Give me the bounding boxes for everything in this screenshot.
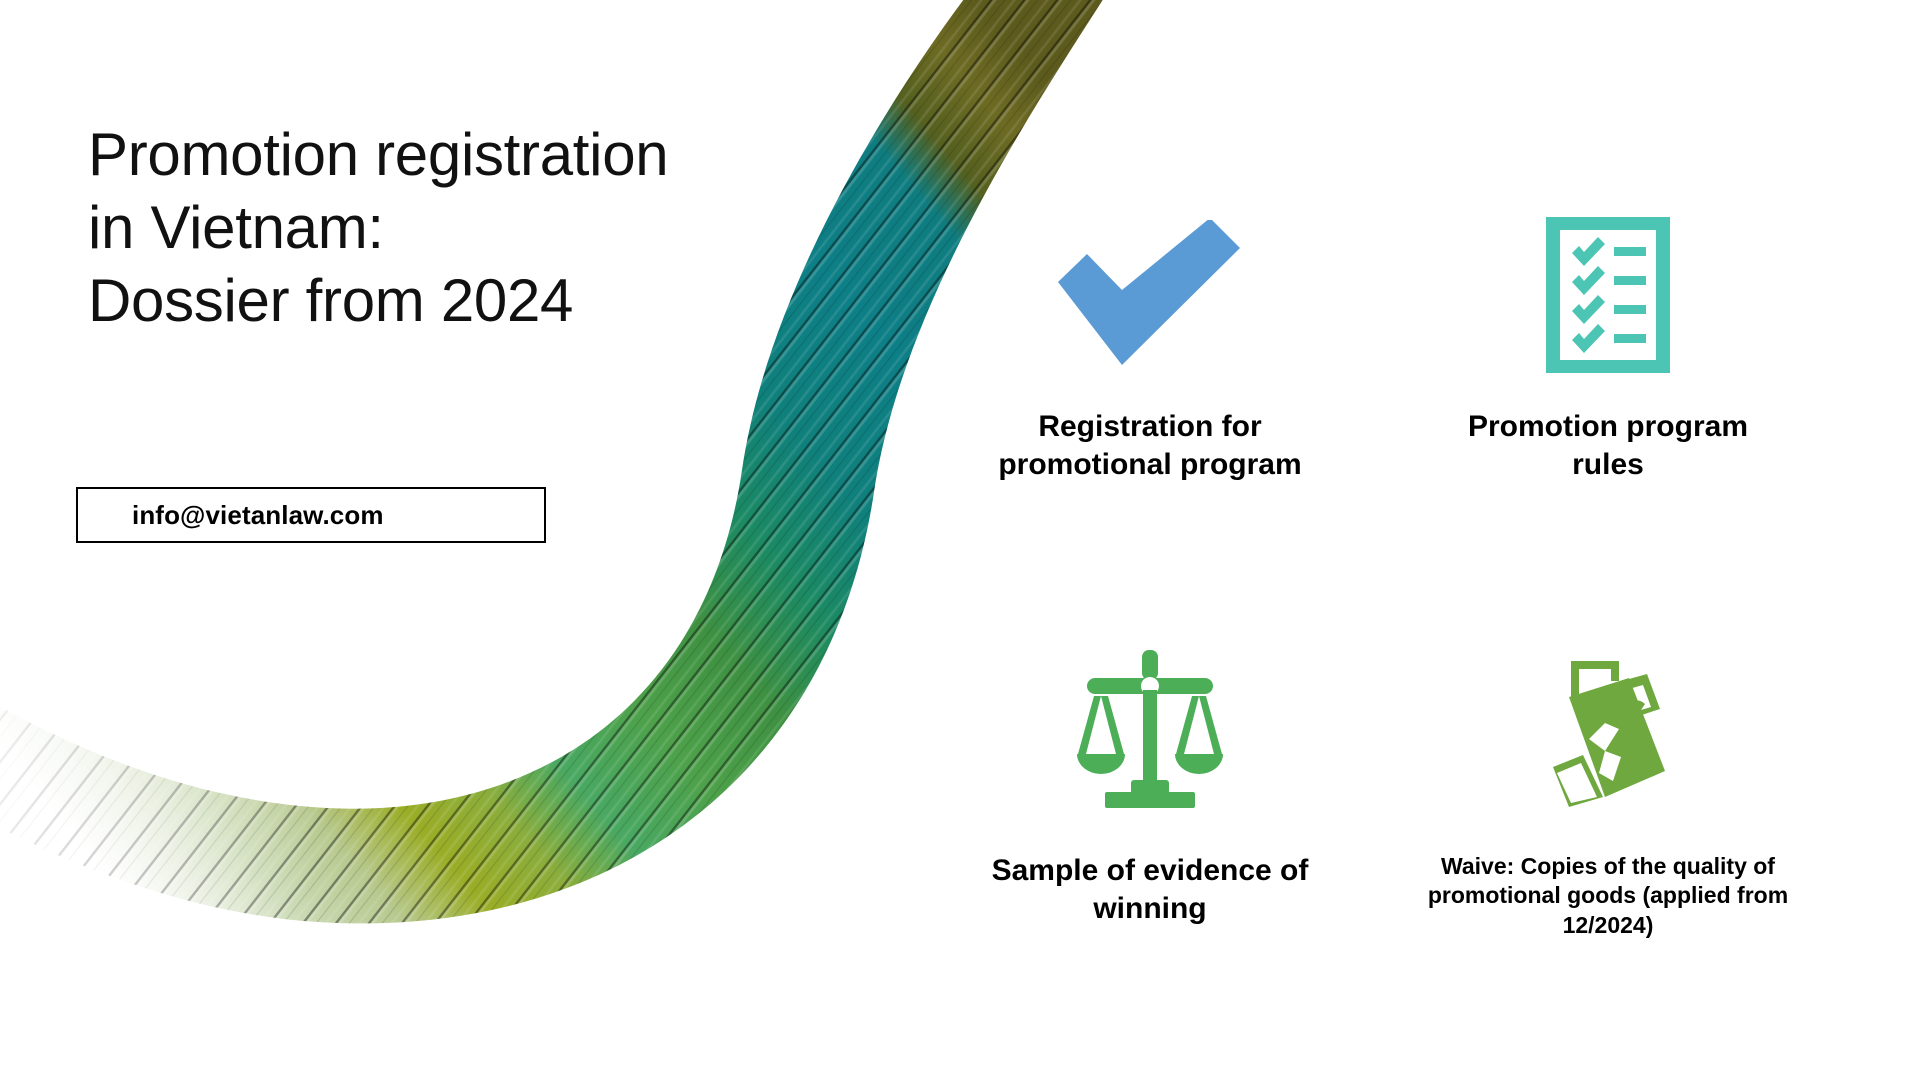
card-registration-label-line-1: Registration for: [998, 408, 1301, 446]
clipboard-checklist-icon: [1546, 200, 1670, 390]
card-registration[interactable]: Registration for promotional program: [940, 200, 1360, 485]
title-line-2: in Vietnam:: [88, 191, 788, 264]
check-mark-icon: [1050, 200, 1250, 390]
card-waive-quality-copies-label: Waive: Copies of the quality of promotio…: [1428, 852, 1788, 940]
slide-root: Promotion registration in Vietnam: Dossi…: [0, 0, 1920, 1080]
check-mark-icon-svg: [1050, 220, 1250, 370]
page-title: Promotion registration in Vietnam: Dossi…: [88, 118, 788, 338]
card-program-rules-label: Promotion program rules: [1468, 408, 1748, 485]
contact-email-text: info@vietanlaw.com: [78, 500, 384, 531]
card-evidence-of-winning-label-line-2: winning: [992, 890, 1309, 928]
feature-card-grid: Registration for promotional program: [940, 200, 1870, 1020]
card-evidence-of-winning[interactable]: Sample of evidence of winning: [940, 632, 1360, 929]
card-waive-quality-copies-label-line-1: Waive: Copies of the quality of: [1428, 852, 1788, 881]
balance-scale-icon: [1077, 632, 1223, 822]
card-evidence-of-winning-label-line-1: Sample of evidence of: [992, 852, 1309, 890]
clipboard-checklist-icon-svg: [1546, 217, 1670, 373]
title-line-3: Dossier from 2024: [88, 264, 788, 337]
card-waive-quality-copies[interactable]: Waive: Copies of the quality of promotio…: [1398, 632, 1818, 940]
card-program-rules-label-line-2: rules: [1468, 446, 1748, 484]
banknotes-icon: [1543, 632, 1673, 822]
title-line-1: Promotion registration: [88, 118, 788, 191]
card-waive-quality-copies-label-line-3: 12/2024): [1428, 911, 1788, 940]
card-program-rules[interactable]: Promotion program rules: [1398, 200, 1818, 485]
card-evidence-of-winning-label: Sample of evidence of winning: [992, 852, 1309, 929]
card-registration-label-line-2: promotional program: [998, 446, 1301, 484]
card-waive-quality-copies-label-line-2: promotional goods (applied from: [1428, 881, 1788, 910]
balance-scale-icon-svg: [1077, 644, 1223, 810]
contact-email-box[interactable]: info@vietanlaw.com: [76, 487, 546, 543]
card-program-rules-label-line-1: Promotion program: [1468, 408, 1748, 446]
banknotes-icon-svg: [1543, 647, 1673, 807]
card-registration-label: Registration for promotional program: [998, 408, 1301, 485]
